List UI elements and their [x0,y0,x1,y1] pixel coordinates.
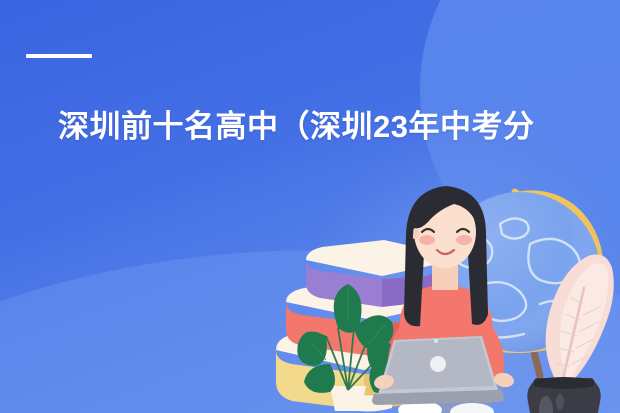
title-accent-rule [26,54,92,58]
girl-cheek-left [419,235,435,245]
illustration-girl-studying [268,168,620,413]
article-cover-card: 深圳前十名高中（深圳23年中考分 [0,0,620,413]
page-title: 深圳前十名高中（深圳23年中考分 [58,104,618,152]
girl-cheek-right [456,235,472,245]
ink-pot [527,377,600,413]
